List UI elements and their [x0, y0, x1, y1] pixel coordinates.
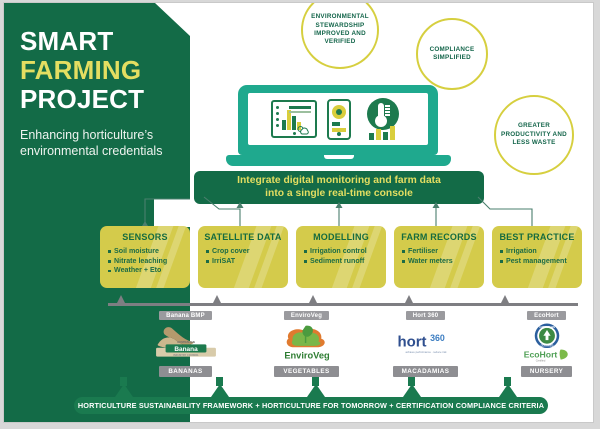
- category-item: Nitrate leaching: [114, 257, 186, 267]
- framework-arrow: [499, 384, 517, 397]
- category-item: Pest management: [506, 257, 578, 267]
- brand-line-project: PROJECT: [20, 85, 190, 114]
- program-name-badge: Hort 360: [406, 311, 446, 320]
- category-item: Sediment runoff: [310, 257, 382, 267]
- category-item: Fertiliser: [408, 247, 480, 257]
- cloud-weather-icon: [297, 122, 310, 131]
- category-item-list: Irrigation Pest management: [496, 247, 578, 266]
- svg-text:Banana: Banana: [174, 346, 198, 353]
- svg-text:EcoHort: EcoHort: [523, 349, 557, 359]
- benefit-circle-label: COMPLIANCE SIMPLIFIED: [423, 46, 481, 63]
- framework-arrow: [211, 384, 229, 397]
- category-item: Irrigation control: [310, 247, 382, 257]
- benefit-circle-compliance-simplified: COMPLIANCE SIMPLIFIED: [416, 18, 488, 90]
- category-item: Water meters: [408, 257, 480, 267]
- program-feed-arrow: [213, 295, 221, 303]
- mobile-phone-icon: [327, 99, 351, 140]
- console-banner-line2: into a single real-time console: [265, 188, 413, 201]
- program-feed-bar: [108, 303, 578, 306]
- framework-arrow: [307, 384, 325, 397]
- laptop-notch: [324, 155, 354, 159]
- brand-tagline: Enhancing horticulture’s environmental c…: [20, 128, 190, 159]
- svg-text:EnviroVeg: EnviroVeg: [284, 351, 330, 361]
- category-box-best-practice[interactable]: BEST PRACTICE Irrigation Pest management: [492, 226, 582, 288]
- program-feed-arrow: [309, 295, 317, 303]
- program-name-badge: Banana BMP: [159, 311, 212, 320]
- console-banner: Integrate digital monitoring and farm da…: [194, 171, 484, 204]
- benefit-circle-greater-productivity: GREATER PRODUCTIVITY AND LESS WASTE: [494, 95, 574, 175]
- category-title: SATELLITE DATA: [202, 232, 284, 242]
- crop-badge: VEGETABLES: [274, 366, 338, 377]
- category-item-list: Fertiliser Water meters: [398, 247, 480, 266]
- crop-badge: BANANAS: [159, 366, 211, 377]
- brand-line-farming: FARMING: [20, 56, 190, 85]
- category-title: BEST PRACTICE: [496, 232, 578, 242]
- svg-text:hort: hort: [397, 333, 426, 350]
- category-title: SENSORS: [104, 232, 186, 242]
- framework-arrow: [115, 384, 133, 397]
- laptop-illustration: [226, 85, 451, 173]
- svg-text:INDUSTRY COUNCIL: INDUSTRY COUNCIL: [173, 353, 199, 357]
- svg-text:AUSTRALIAN: AUSTRALIAN: [539, 326, 555, 329]
- bottom-framework-banner: HORTICULTURE SUSTAINABILITY FRAMEWORK + …: [74, 397, 548, 414]
- banana-bmp-logo: Banana AUSTRALIAN INDUSTRY COUNCIL: [152, 322, 220, 364]
- laptop-screen: [248, 93, 428, 145]
- category-item: Irrigation: [506, 247, 578, 257]
- svg-text:achieve performance · reduce r: achieve performance · reduce risk: [405, 350, 447, 354]
- crop-badge: NURSERY: [521, 366, 572, 377]
- program-column-ecohort: EcoHort AUSTRALIAN CERTIFIED EcoHort Cer…: [511, 311, 582, 383]
- category-box-farm-records[interactable]: FARM RECORDS Fertiliser Water meters: [394, 226, 484, 288]
- category-item: IrriSAT: [212, 257, 284, 267]
- category-box-modelling[interactable]: MODELLING Irrigation control Sediment ru…: [296, 226, 386, 288]
- program-feed-arrow: [501, 295, 509, 303]
- benefit-circle-label: GREATER PRODUCTIVITY AND LESS WASTE: [501, 122, 567, 147]
- category-item-list: Irrigation control Sediment runoff: [300, 247, 382, 266]
- category-item: Crop cover: [212, 247, 284, 257]
- category-title: FARM RECORDS: [398, 232, 480, 242]
- program-name-badge: EnviroVeg: [284, 311, 329, 320]
- benefit-circle-label: ENVIRONMENTAL STEWARDSHIP IMPROVED AND V…: [308, 13, 372, 47]
- program-feed-arrow: [405, 295, 413, 303]
- svg-text:AUSTRALIAN: AUSTRALIAN: [177, 340, 195, 344]
- program-column-enviroveg: EnviroVeg EnviroVeg VEGETABLES: [271, 311, 342, 383]
- svg-text:360: 360: [430, 333, 445, 343]
- program-logo-row: Banana BMP Banana AUSTRALIAN INDUSTRY CO…: [100, 311, 582, 383]
- thermometer-chart-icon: [361, 98, 405, 140]
- category-box-row: SENSORS Soil moisture Nitrate leaching W…: [100, 226, 582, 288]
- bottom-framework-banner-text: HORTICULTURE SUSTAINABILITY FRAMEWORK + …: [78, 401, 544, 410]
- laptop-lid: [238, 85, 438, 155]
- category-box-satellite-data[interactable]: SATELLITE DATA Crop cover IrriSAT: [198, 226, 288, 288]
- location-pin-icon: [332, 105, 346, 119]
- brand-line-smart: SMART: [20, 27, 190, 56]
- crop-badge: MACADAMIAS: [393, 366, 459, 377]
- program-feed-arrow: [117, 295, 125, 303]
- monitor-chart-icon: [271, 100, 317, 138]
- category-title: MODELLING: [300, 232, 382, 242]
- framework-arrow: [403, 384, 421, 397]
- svg-text:Certified: Certified: [535, 359, 545, 363]
- program-column-banana-bmp: Banana BMP Banana AUSTRALIAN INDUSTRY CO…: [150, 311, 221, 383]
- brand-block: SMART FARMING PROJECT Enhancing horticul…: [4, 3, 190, 159]
- ecohort-logo: AUSTRALIAN CERTIFIED EcoHort Certified: [516, 322, 578, 364]
- category-item: Soil moisture: [114, 247, 186, 257]
- benefit-circle-environmental-stewardship: ENVIRONMENTAL STEWARDSHIP IMPROVED AND V…: [301, 2, 379, 69]
- enviroveg-logo: EnviroVeg: [278, 322, 336, 364]
- category-item-list: Soil moisture Nitrate leaching Weather +…: [104, 247, 186, 276]
- program-name-badge: EcoHort: [527, 311, 566, 320]
- svg-text:CERTIFIED: CERTIFIED: [540, 345, 553, 348]
- category-item: Weather + Eto: [114, 266, 186, 276]
- category-box-sensors[interactable]: SENSORS Soil moisture Nitrate leaching W…: [100, 226, 190, 288]
- console-banner-line1: Integrate digital monitoring and farm da…: [237, 175, 441, 188]
- program-column-hort-360: Hort 360 hort 360 achieve performance · …: [390, 311, 461, 383]
- infographic-poster: SMART FARMING PROJECT Enhancing horticul…: [3, 2, 594, 423]
- category-item-list: Crop cover IrriSAT: [202, 247, 284, 266]
- hort-360-logo: hort 360 achieve performance · reduce ri…: [392, 322, 460, 364]
